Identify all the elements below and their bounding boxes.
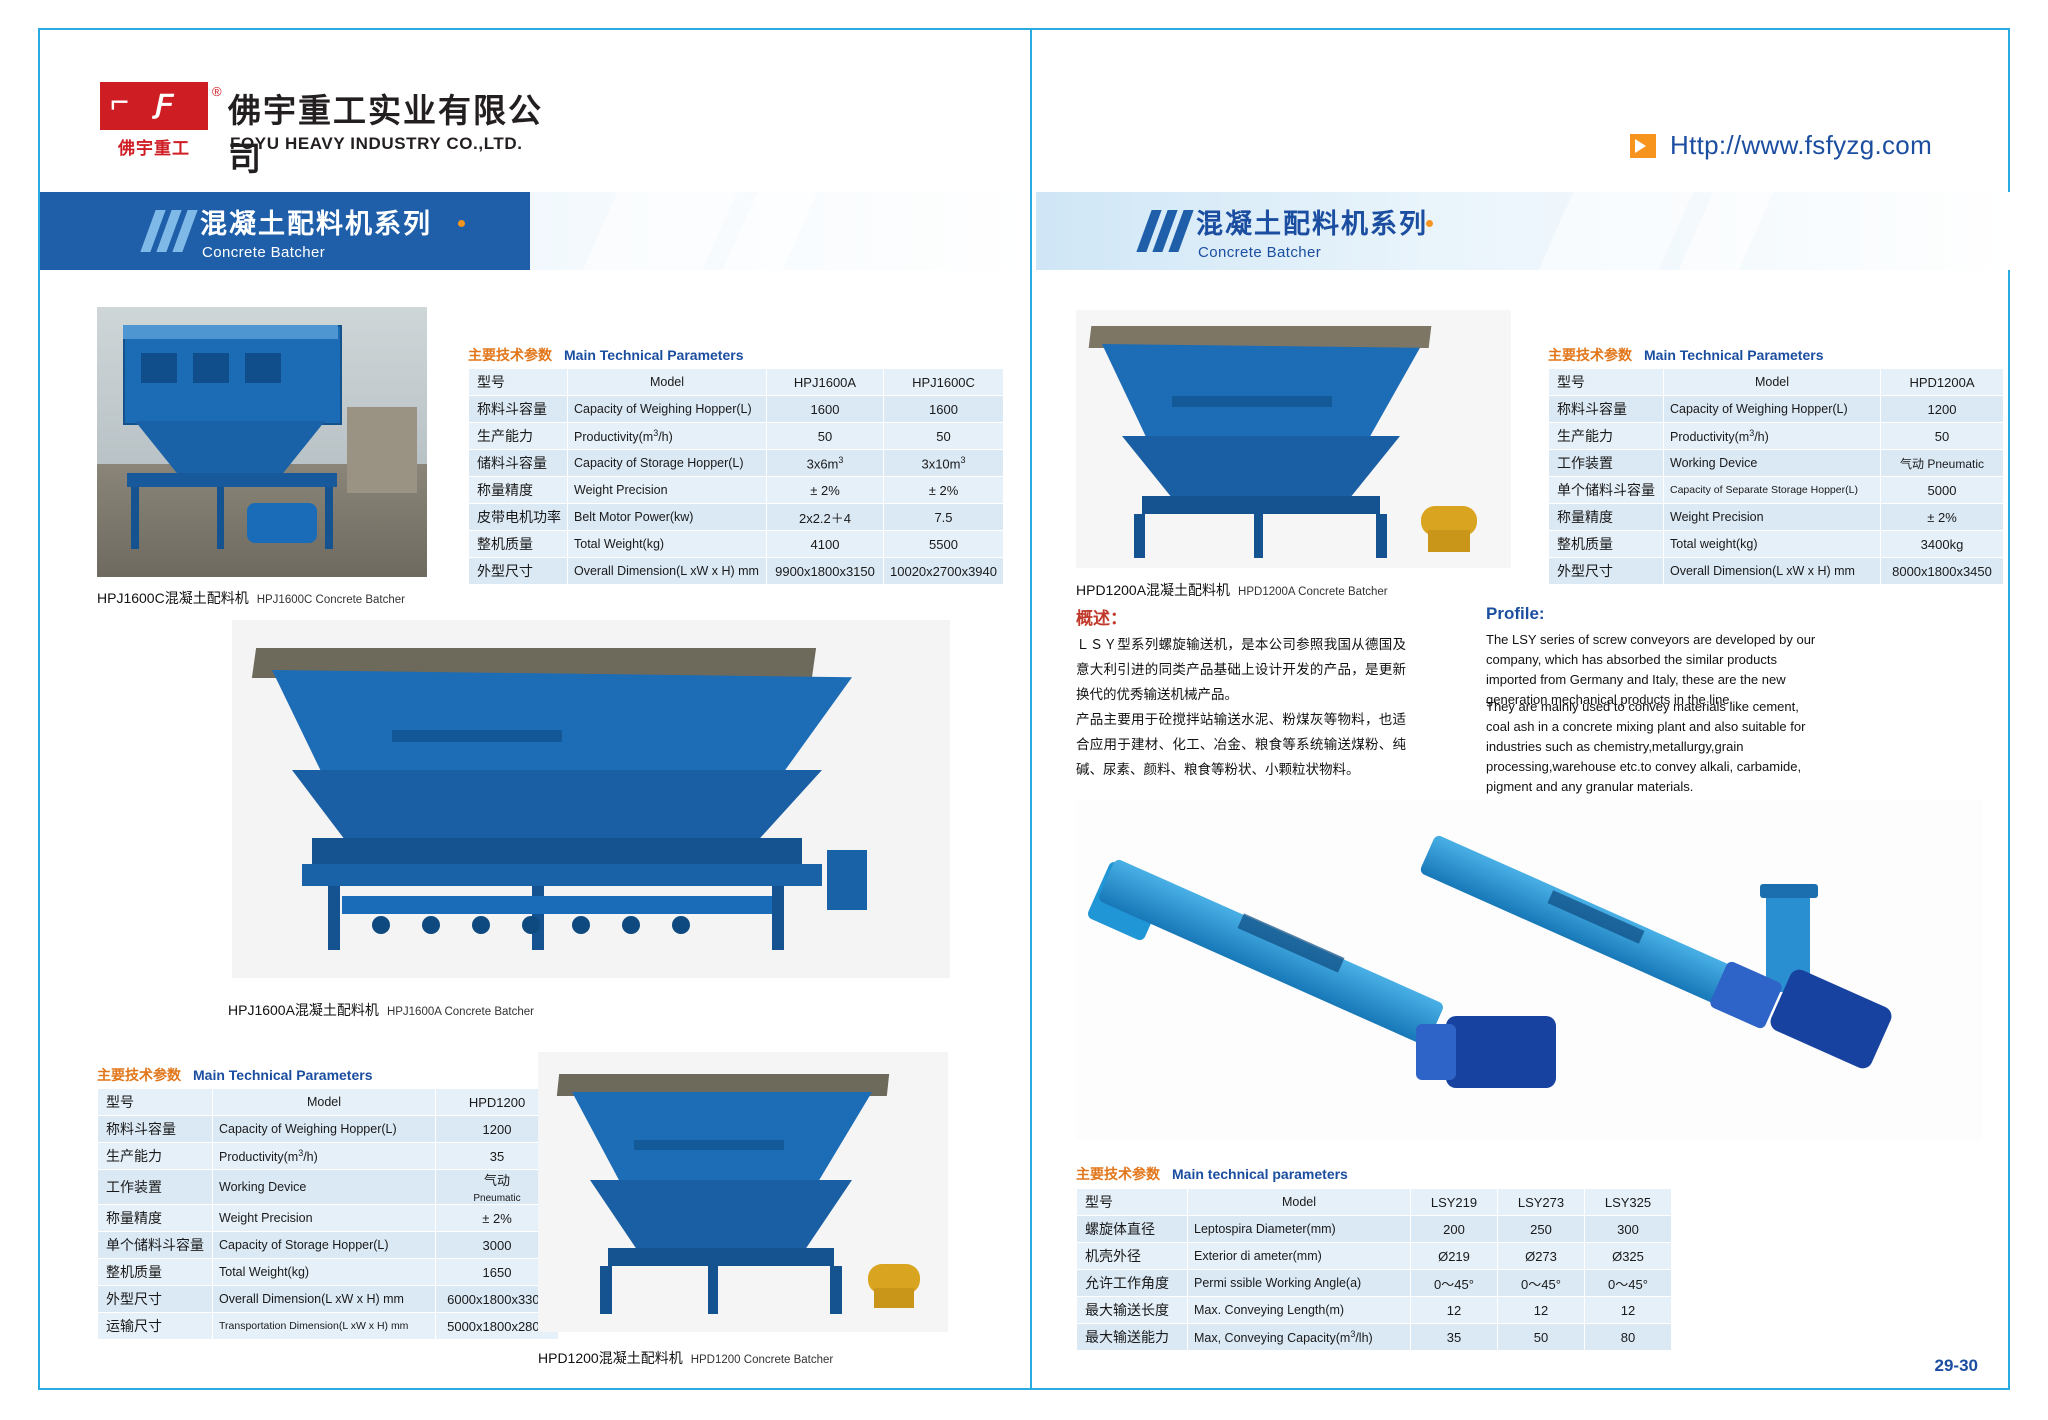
table-cell: 9900x1800x3150 [767, 558, 884, 585]
table-row: 型号ModelHPD1200 [98, 1089, 559, 1116]
table-cell: Ø325 [1585, 1243, 1672, 1270]
table-cell: 12 [1585, 1297, 1672, 1324]
table-cell: Overall Dimension(L xW x H) mm [213, 1286, 436, 1313]
table-row: 称料斗容量Capacity of Weighing Hopper(L)16001… [469, 396, 1004, 423]
table-cell: 螺旋体直径 [1077, 1216, 1188, 1243]
table-row: 称料斗容量Capacity of Weighing Hopper(L)1200 [1549, 396, 2004, 423]
table-cell: 称料斗容量 [98, 1116, 213, 1143]
table-cell: 工作装置 [1549, 450, 1664, 477]
table-cell: 0～45° [1585, 1270, 1672, 1297]
table-row: 最大输送长度Max. Conveying Length(m)121212 [1077, 1297, 1672, 1324]
table-row: 皮带电机功率Belt Motor Power(kw)2x2.2＋47.5 [469, 504, 1004, 531]
profile-title-en: Profile: [1486, 604, 1545, 624]
table-cell: ± 2% [767, 477, 884, 504]
table-cell: 工作装置 [98, 1170, 213, 1205]
table-row: 单个储料斗容量Capacity of Storage Hopper(L)3000 [98, 1232, 559, 1259]
table-cell: 单个储料斗容量 [98, 1232, 213, 1259]
table-cell: Capacity of Weighing Hopper(L) [1664, 396, 1881, 423]
table-heading-hpd1200: 主要技术参数Main Technical Parameters [97, 1065, 372, 1085]
table-cell: 生产能力 [469, 423, 568, 450]
table-cell: Ø273 [1498, 1243, 1585, 1270]
table-cell: 3x6m3 [767, 450, 884, 477]
col-header-model-en: Model [1188, 1189, 1411, 1216]
table-row: 型号ModelHPJ1600AHPJ1600C [469, 369, 1004, 396]
table-cell: 称量精度 [469, 477, 568, 504]
page-number: 29-30 [1935, 1356, 1978, 1376]
company-name-en: FOYU HEAVY INDUSTRY CO.,LTD. [230, 134, 523, 154]
table-cell: 250 [1498, 1216, 1585, 1243]
table-cell: 10020x2700x3940 [884, 558, 1004, 585]
table-cell: ± 2% [1881, 504, 2004, 531]
photo-hpj1600c [97, 307, 427, 577]
globe-arrow-icon [1630, 134, 1656, 158]
table-cell: 300 [1585, 1216, 1672, 1243]
table-cell: 称料斗容量 [1549, 396, 1664, 423]
table-heading-lsy: 主要技术参数Main technical parameters [1076, 1164, 1348, 1184]
page-center-divider [1030, 30, 1032, 1388]
table-cell: Working Device [1664, 450, 1881, 477]
col-header-model-cn: 型号 [469, 369, 568, 396]
col-header-hpj1600c: HPJ1600C [884, 369, 1004, 396]
table-row: 称量精度Weight Precision± 2% [98, 1205, 559, 1232]
table-cell: 称量精度 [98, 1205, 213, 1232]
caption-hpj1600a: HPJ1600A混凝土配料机HPJ1600A Concrete Batcher [228, 1000, 534, 1020]
table-cell: 生产能力 [1549, 423, 1664, 450]
table-cell: 80 [1585, 1324, 1672, 1351]
table-cell: Capacity of Storage Hopper(L) [213, 1232, 436, 1259]
table-cell: 5500 [884, 531, 1004, 558]
table-cell: Total Weight(kg) [568, 531, 767, 558]
table-cell: 5000 [1881, 477, 2004, 504]
registered-mark: ® [212, 84, 222, 99]
profile-text-cn-2: 产品主要用于砼搅拌站输送水泥、粉煤灰等物料，也适合应用于建材、化工、冶金、粮食等… [1076, 707, 1406, 782]
caption-hpj1600c: HPJ1600C混凝土配料机HPJ1600C Concrete Batcher [97, 588, 405, 608]
table-heading-hpd1200a: 主要技术参数Main Technical Parameters [1548, 345, 1823, 365]
section-banner-right: 混凝土配料机系列 Concrete Batcher [1036, 192, 2010, 270]
table-cell: 0～45° [1411, 1270, 1498, 1297]
logo-cn-small: 佛宇重工 [100, 134, 208, 159]
photo-screw-conveyors [1076, 800, 1982, 1140]
table-cell: Working Device [213, 1170, 436, 1205]
table-row: 称量精度Weight Precision± 2%± 2% [469, 477, 1004, 504]
col-header-model-en: Model [1664, 369, 1881, 396]
col-header-lsy273: LSY273 [1498, 1189, 1585, 1216]
table-cell: 外型尺寸 [1549, 558, 1664, 585]
table-cell: Capacity of Weighing Hopper(L) [568, 396, 767, 423]
table-row: 运输尺寸Transportation Dimension(L xW x H) m… [98, 1313, 559, 1340]
table-cell: Transportation Dimension(L xW x H) mm [213, 1313, 436, 1340]
table-cell: Capacity of Storage Hopper(L) [568, 450, 767, 477]
table-row: 生产能力Productivity(m3/h)35 [98, 1143, 559, 1170]
table-cell: Ø219 [1411, 1243, 1498, 1270]
table-cell: 运输尺寸 [98, 1313, 213, 1340]
table-cell: ± 2% [884, 477, 1004, 504]
profile-text-cn-1: ＬＳＹ型系列螺旋输送机，是本公司参照我国从德国及意大利引进的同类产品基础上设计开… [1076, 632, 1406, 707]
table-cell: Max, Conveying Capacity(m3/lh) [1188, 1324, 1411, 1351]
col-header-model-cn: 型号 [1549, 369, 1664, 396]
banner-title-en: Concrete Batcher [202, 244, 325, 261]
photo-hpd1200a [1076, 310, 1511, 568]
company-name-cn: 佛宇重工实业有限公司 [228, 84, 560, 180]
table-row: 整机质量Total Weight(kg)41005500 [469, 531, 1004, 558]
table-cell: 2x2.2＋4 [767, 504, 884, 531]
table-row: 最大输送能力Max, Conveying Capacity(m3/lh)3550… [1077, 1324, 1672, 1351]
table-row: 外型尺寸Overall Dimension(L xW x H) mm9900x1… [469, 558, 1004, 585]
col-header-lsy325: LSY325 [1585, 1189, 1672, 1216]
table-cell: Belt Motor Power(kw) [568, 504, 767, 531]
banner-title-cn: 混凝土配料机系列 [1196, 202, 1428, 241]
table-hpd1200a: 型号ModelHPD1200A称料斗容量Capacity of Weighing… [1548, 368, 2004, 585]
website-link[interactable]: Http://www.fsfyzg.com [1630, 130, 1932, 161]
table-cell: 生产能力 [98, 1143, 213, 1170]
company-logo: ⌐Ƒ ® 佛宇重工 佛宇重工实业有限公司 FOYU HEAVY INDUSTRY… [100, 82, 560, 162]
col-header-model-en: Model [568, 369, 767, 396]
table-heading-hpj1600: 主要技术参数Main Technical Parameters [468, 345, 743, 365]
table-cell: 外型尺寸 [469, 558, 568, 585]
table-cell: 整机质量 [98, 1259, 213, 1286]
table-cell: 50 [884, 423, 1004, 450]
table-cell: Weight Precision [568, 477, 767, 504]
table-cell: Overall Dimension(L xW x H) mm [1664, 558, 1881, 585]
table-row: 生产能力Productivity(m3/h)50 [1549, 423, 2004, 450]
table-cell: 50 [1498, 1324, 1585, 1351]
section-banner-left: 混凝土配料机系列 Concrete Batcher [40, 192, 1030, 270]
table-row: 螺旋体直径Leptospira Diameter(mm)200250300 [1077, 1216, 1672, 1243]
banner-title-en: Concrete Batcher [1198, 244, 1321, 261]
profile-title-cn: 概述： [1076, 604, 1127, 629]
table-cell: 12 [1498, 1297, 1585, 1324]
col-header-model-en: Model [213, 1089, 436, 1116]
table-cell: 整机质量 [469, 531, 568, 558]
table-cell: Weight Precision [1664, 504, 1881, 531]
table-cell: 3400kg [1881, 531, 2004, 558]
table-cell: 0～45° [1498, 1270, 1585, 1297]
col-header-lsy219: LSY219 [1411, 1189, 1498, 1216]
table-cell: Capacity of Weighing Hopper(L) [213, 1116, 436, 1143]
table-row: 机壳外径Exterior di ameter(mm)Ø219Ø273Ø325 [1077, 1243, 1672, 1270]
table-row: 单个储料斗容量Capacity of Separate Storage Hopp… [1549, 477, 2004, 504]
profile-text-en-2: They are mainly used to convey materials… [1486, 697, 1826, 797]
table-cell: 机壳外径 [1077, 1243, 1188, 1270]
table-row: 生产能力Productivity(m3/h)5050 [469, 423, 1004, 450]
table-row: 型号ModelHPD1200A [1549, 369, 2004, 396]
banner-dot-icon [458, 220, 465, 227]
caption-hpd1200: HPD1200混凝土配料机HPD1200 Concrete Batcher [538, 1348, 833, 1368]
table-cell: Total Weight(kg) [213, 1259, 436, 1286]
table-cell: 12 [1411, 1297, 1498, 1324]
table-row: 工作装置Working Device气动Pneumatic [98, 1170, 559, 1205]
caption-hpd1200a: HPD1200A混凝土配料机HPD1200A Concrete Batcher [1076, 580, 1388, 600]
table-cell: 储料斗容量 [469, 450, 568, 477]
table-row: 称料斗容量Capacity of Weighing Hopper(L)1200 [98, 1116, 559, 1143]
table-cell: 7.5 [884, 504, 1004, 531]
col-header-hpd1200a: HPD1200A [1881, 369, 2004, 396]
table-row: 外型尺寸Overall Dimension(L xW x H) mm6000x1… [98, 1286, 559, 1313]
table-row: 工作装置Working Device气动 Pneumatic [1549, 450, 2004, 477]
table-cell: 皮带电机功率 [469, 504, 568, 531]
photo-hpj1600a [232, 620, 950, 978]
table-cell: Overall Dimension(L xW x H) mm [568, 558, 767, 585]
table-row: 外型尺寸Overall Dimension(L xW x H) mm8000x1… [1549, 558, 2004, 585]
table-cell: 单个储料斗容量 [1549, 477, 1664, 504]
table-cell: 8000x1800x3450 [1881, 558, 2004, 585]
table-row: 称量精度Weight Precision± 2% [1549, 504, 2004, 531]
table-cell: Productivity(m3/h) [213, 1143, 436, 1170]
table-cell: 200 [1411, 1216, 1498, 1243]
table-row: 允许工作角度Permi ssible Working Angle(a)0～45°… [1077, 1270, 1672, 1297]
table-cell: 称料斗容量 [469, 396, 568, 423]
photo-hpd1200 [538, 1052, 948, 1332]
table-cell: 整机质量 [1549, 531, 1664, 558]
table-cell: Exterior di ameter(mm) [1188, 1243, 1411, 1270]
table-cell: Max. Conveying Length(m) [1188, 1297, 1411, 1324]
table-lsy: 型号ModelLSY219LSY273LSY325螺旋体直径Leptospira… [1076, 1188, 1672, 1351]
table-cell: 最大输送能力 [1077, 1324, 1188, 1351]
col-header-model-cn: 型号 [98, 1089, 213, 1116]
table-row: 储料斗容量Capacity of Storage Hopper(L)3x6m33… [469, 450, 1004, 477]
table-hpj1600: 型号ModelHPJ1600AHPJ1600C称料斗容量Capacity of … [468, 368, 1004, 585]
table-cell: Permi ssible Working Angle(a) [1188, 1270, 1411, 1297]
table-cell: Leptospira Diameter(mm) [1188, 1216, 1411, 1243]
table-cell: 称量精度 [1549, 504, 1664, 531]
col-header-hpj1600a: HPJ1600A [767, 369, 884, 396]
table-cell: 1200 [1881, 396, 2004, 423]
table-cell: Weight Precision [213, 1205, 436, 1232]
table-cell: 50 [767, 423, 884, 450]
table-cell: 50 [1881, 423, 2004, 450]
table-cell: 35 [1411, 1324, 1498, 1351]
table-cell: 允许工作角度 [1077, 1270, 1188, 1297]
table-cell: 1600 [767, 396, 884, 423]
table-row: 整机质量Total Weight(kg)1650 [98, 1259, 559, 1286]
website-url-text: Http://www.fsfyzg.com [1670, 130, 1932, 161]
table-cell: 最大输送长度 [1077, 1297, 1188, 1324]
table-row: 整机质量Total weight(kg)3400kg [1549, 531, 2004, 558]
table-cell: 外型尺寸 [98, 1286, 213, 1313]
banner-title-cn: 混凝土配料机系列 [200, 202, 432, 241]
banner-dot-icon [1426, 220, 1433, 227]
table-cell: Capacity of Separate Storage Hopper(L) [1664, 477, 1881, 504]
logo-mark-icon: ⌐Ƒ [100, 82, 208, 130]
table-cell: 气动 Pneumatic [1881, 450, 2004, 477]
table-row: 型号ModelLSY219LSY273LSY325 [1077, 1189, 1672, 1216]
table-cell: Total weight(kg) [1664, 531, 1881, 558]
table-cell: 3x10m3 [884, 450, 1004, 477]
catalog-page: ⌐Ƒ ® 佛宇重工 佛宇重工实业有限公司 FOYU HEAVY INDUSTRY… [0, 0, 2048, 1420]
table-hpd1200: 型号ModelHPD1200称料斗容量Capacity of Weighing … [97, 1088, 559, 1340]
col-header-model-cn: 型号 [1077, 1189, 1188, 1216]
table-cell: 4100 [767, 531, 884, 558]
table-cell: 1600 [884, 396, 1004, 423]
table-cell: Productivity(m3/h) [568, 423, 767, 450]
table-cell: Productivity(m3/h) [1664, 423, 1881, 450]
